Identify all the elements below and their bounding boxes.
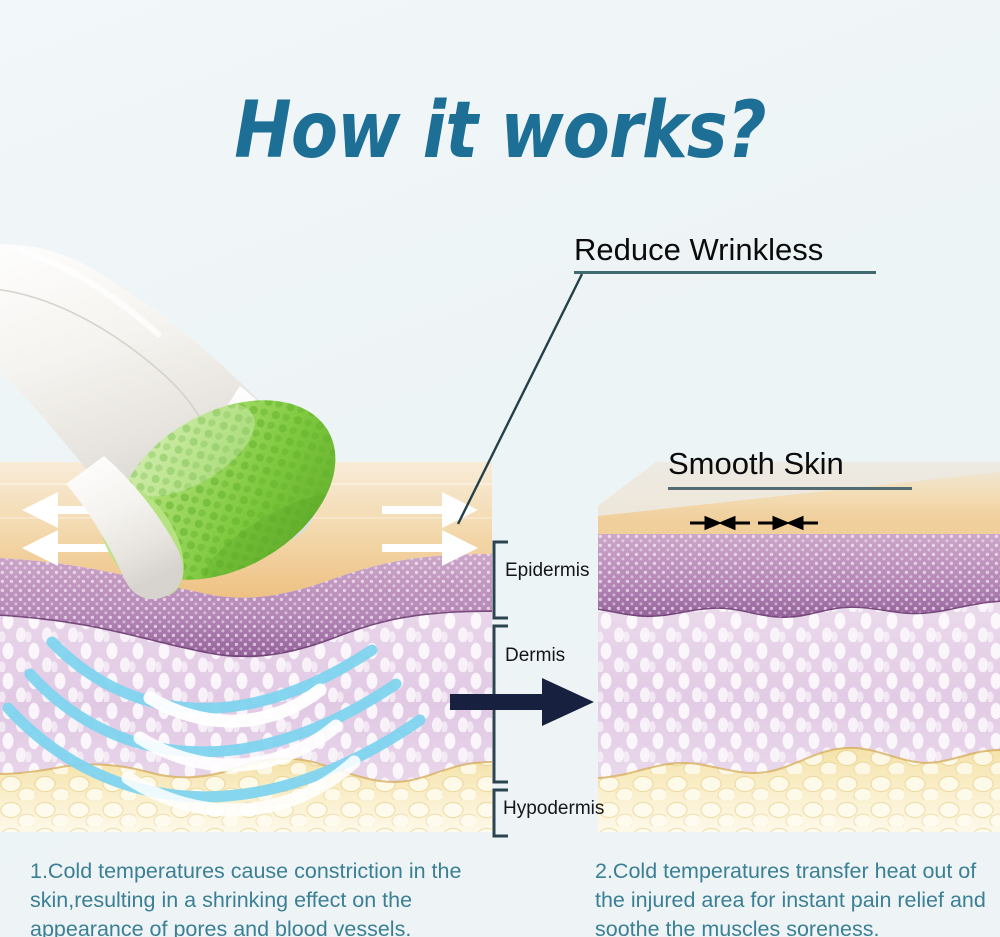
callout-reduce-wrinkless: Reduce Wrinkless [574, 232, 876, 274]
transition-arrow-icon [450, 676, 595, 728]
ice-roller-device [0, 228, 398, 628]
layer-label-hypodermis: Hypodermis [503, 798, 604, 820]
smooth-skin-label: Smooth Skin [668, 446, 912, 482]
smooth-skin-underline [668, 487, 912, 490]
reduce-wrinkless-label: Reduce Wrinkless [574, 232, 876, 268]
infographic-canvas: How it works? [0, 0, 1000, 937]
caption-step-1: 1.Cold temperatures cause constriction i… [30, 857, 480, 937]
reduce-wrinkless-underline [574, 271, 876, 274]
smooth-skin-illustration [598, 462, 1000, 832]
callout-smooth-skin: Smooth Skin [668, 446, 912, 490]
layer-label-epidermis: Epidermis [505, 560, 589, 582]
panel-smooth-skin [598, 462, 1000, 832]
page-title: How it works? [60, 92, 940, 170]
layer-label-dermis: Dermis [505, 645, 565, 667]
caption-step-2: 2.Cold temperatures transfer heat out of… [595, 857, 1000, 937]
